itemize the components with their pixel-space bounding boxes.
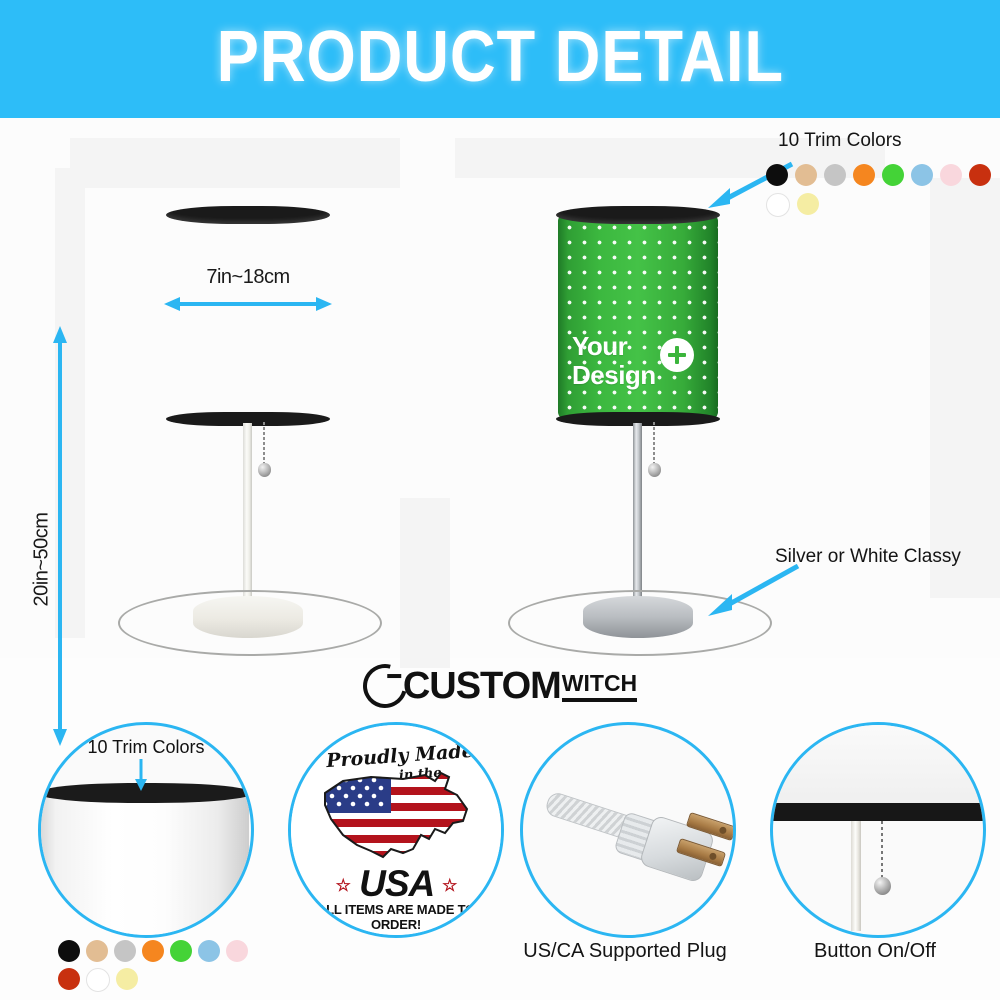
product-detail-page: PRODUCT DETAIL 7in~18cm 20in~50cm — [0, 0, 1000, 1000]
usa-word: USA — [359, 863, 433, 904]
button-feature-circle — [770, 722, 986, 938]
plug-feature-caption: US/CA Supported Plug — [500, 940, 750, 963]
swatch-orange[interactable] — [142, 940, 164, 962]
trim-colors-feature: 10 Trim Colors — [38, 722, 258, 992]
plug-feature-circle — [520, 722, 736, 938]
swatch-green[interactable] — [882, 164, 904, 186]
brand-logo: CUSTOM WITCH — [0, 660, 1000, 712]
button-feature-shade — [770, 722, 986, 805]
usa-big-text: ☆ USA ☆ — [291, 863, 501, 905]
swatch-white[interactable] — [766, 193, 790, 217]
white-lamp-pole — [243, 423, 252, 618]
trim-colors-down-arrow-icon — [133, 759, 149, 791]
silver-lamp-pole — [633, 423, 642, 618]
swatch-light-blue[interactable] — [198, 940, 220, 962]
plus-icon[interactable] — [660, 338, 694, 372]
button-feature-caption: Button On/Off — [770, 940, 980, 963]
button-feature-pole — [851, 821, 861, 931]
silver-lamp-base — [583, 596, 693, 638]
logo-secondary-text: WITCH — [562, 670, 637, 702]
swatch-gray[interactable] — [114, 940, 136, 962]
button-feature-chain[interactable] — [881, 821, 883, 881]
swatch-tan[interactable] — [86, 940, 108, 962]
swatch-white[interactable] — [86, 968, 110, 992]
made-in-usa-circle: Proudly Made in the — [288, 722, 504, 938]
swatch-red[interactable] — [969, 164, 991, 186]
plug-feature: US/CA Supported Plug — [520, 722, 760, 982]
swatch-black[interactable] — [58, 940, 80, 962]
swatch-black[interactable] — [766, 164, 788, 186]
star-icon-left: ☆ — [336, 876, 350, 895]
green-lamp-shade: Your Design — [558, 214, 718, 419]
trim-colors-callout-label: 10 Trim Colors — [778, 130, 902, 152]
width-dimension-label: 7in~18cm — [168, 266, 328, 289]
swatch-red[interactable] — [58, 968, 80, 990]
feature-shade — [39, 795, 249, 938]
plug-icon — [545, 783, 735, 893]
trim-colors-swatch-row-bottom — [58, 940, 258, 992]
swatch-gray[interactable] — [824, 164, 846, 186]
trim-colors-feature-circle: 10 Trim Colors — [38, 722, 254, 938]
bg-block — [70, 138, 400, 188]
button-feature: Button On/Off — [770, 722, 990, 982]
page-header: PRODUCT DETAIL — [0, 0, 1000, 118]
swatch-tan[interactable] — [795, 164, 817, 186]
swatch-orange[interactable] — [853, 164, 875, 186]
white-lamp-base — [193, 596, 303, 638]
bg-block — [400, 498, 450, 668]
swatch-pink[interactable] — [940, 164, 962, 186]
swatch-light-blue[interactable] — [911, 164, 933, 186]
swatch-green[interactable] — [170, 940, 192, 962]
button-feature-trim — [770, 803, 986, 821]
bg-block — [930, 178, 1000, 598]
button-feature-pull-ball[interactable] — [874, 877, 891, 895]
logo-primary-text: CUSTOM — [403, 665, 561, 708]
green-lamp-top-trim — [556, 206, 720, 224]
main-stage: 7in~18cm 20in~50cm — [0, 118, 1000, 658]
page-title: PRODUCT DETAIL — [216, 21, 783, 97]
usa-badge: Proudly Made in the — [291, 725, 501, 935]
your-design-line-2: Design — [558, 361, 718, 390]
made-in-usa-feature: Proudly Made in the — [288, 722, 508, 942]
usa-flag-map-icon — [317, 765, 477, 863]
trim-colors-swatch-row-top — [766, 164, 1000, 217]
trim-colors-inner-label: 10 Trim Colors — [41, 737, 251, 758]
width-dimension-arrow — [164, 296, 332, 312]
usa-subtitle: ALL ITEMS ARE MADE TO ORDER! — [291, 902, 501, 932]
your-design-line-1: Your — [558, 332, 718, 361]
star-icon-right: ☆ — [442, 876, 456, 895]
swatch-yellow[interactable] — [797, 193, 819, 215]
height-dimension-label: 20in~50cm — [31, 480, 54, 640]
swatch-yellow[interactable] — [116, 968, 138, 990]
white-lamp-top-trim — [166, 206, 330, 224]
swatch-pink[interactable] — [226, 940, 248, 962]
finish-callout-arrow — [698, 558, 806, 620]
